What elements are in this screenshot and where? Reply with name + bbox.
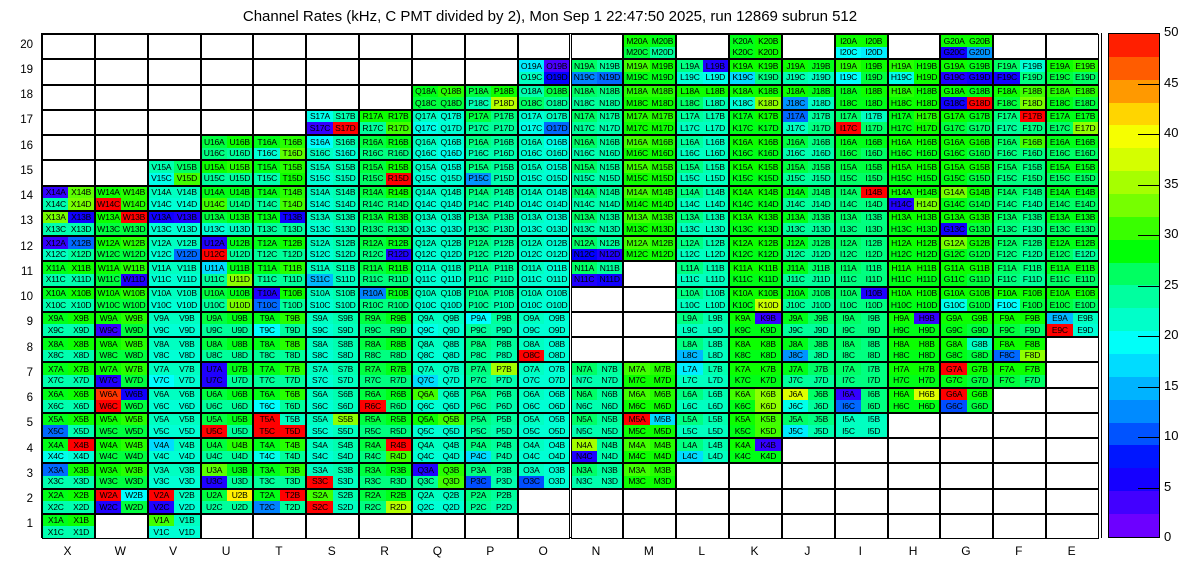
heatmap-cell-l14[interactable]: L14AL14BL14CL14D [676,186,729,211]
heatmap-cell-k18[interactable]: K18AK18BK18CK18D [729,85,782,110]
heatmap-cell-t6[interactable]: T6AT6BT6CT6D [253,388,306,413]
heatmap-cell-p20[interactable] [465,34,518,59]
heatmap-cell-e10[interactable]: E10AE10BE10CE10D [1046,287,1099,312]
heatmap-cell-l20[interactable] [676,34,729,59]
heatmap-cell-m7[interactable]: M7AM7BM7CM7D [623,362,676,387]
heatmap-cell-g18[interactable]: G18AG18BG18CG18D [940,85,993,110]
heatmap-cell-o16[interactable]: O16AO16BO16CO16D [518,135,571,160]
heatmap-cell-s8[interactable]: S8AS8BS8CS8D [306,337,359,362]
heatmap-cell-n18[interactable]: N18AN18BN18CN18D [571,85,624,110]
heatmap-cell-p3[interactable]: P3AP3BP3CP3D [465,463,518,488]
heatmap-cell-u11[interactable]: U11AU11BU11CU11D [201,261,254,286]
heatmap-cell-j5[interactable]: J5AJ5BJ5CJ5D [782,413,835,438]
heatmap-cell-w1[interactable] [95,514,148,539]
heatmap-cell-o10[interactable]: O10AO10BO10CO10D [518,287,571,312]
heatmap-cell-l7[interactable]: L7AL7BL7CL7D [676,362,729,387]
heatmap-cell-o11[interactable]: O11AO11BO11CO11D [518,261,571,286]
heatmap-cell-j10[interactable]: J10AJ10BJ10CJ10D [782,287,835,312]
heatmap-cell-f15[interactable]: F15AF15BF15CF15D [993,160,1046,185]
heatmap-cell-h3[interactable] [888,463,941,488]
heatmap-cell-f11[interactable]: F11AF11BF11CF11D [993,261,1046,286]
heatmap-cell-l18[interactable]: L18AL18BL18CL18D [676,85,729,110]
heatmap-cell-v13[interactable]: V13AV13BV13CV13D [148,211,201,236]
heatmap-cell-n20[interactable] [571,34,624,59]
heatmap-cell-o17[interactable]: O17AO17BO17CO17D [518,110,571,135]
heatmap-cell-n17[interactable]: N17AN17BN17CN17D [571,110,624,135]
heatmap-cell-u9[interactable]: U9AU9BU9CU9D [201,312,254,337]
heatmap-cell-e6[interactable] [1046,388,1099,413]
heatmap-cell-v2[interactable]: V2AV2BV2CV2D [148,489,201,514]
heatmap-cell-r3[interactable]: R3AR3BR3CR3D [359,463,412,488]
heatmap-cell-m9[interactable] [623,312,676,337]
heatmap-cell-e1[interactable] [1046,514,1099,539]
heatmap-cell-i18[interactable]: I18AI18BI18CI18D [835,85,888,110]
heatmap-cell-x7[interactable]: X7AX7BX7CX7D [42,362,95,387]
heatmap-cell-n10[interactable] [571,287,624,312]
heatmap-cell-l1[interactable] [676,514,729,539]
heatmap-cell-m13[interactable]: M13AM13BM13CM13D [623,211,676,236]
heatmap-cell-s20[interactable] [306,34,359,59]
heatmap-cell-l5[interactable]: L5AL5BL5CL5D [676,413,729,438]
heatmap-cell-w4[interactable]: W4AW4BW4CW4D [95,438,148,463]
heatmap-cell-p4[interactable]: P4AP4BP4CP4D [465,438,518,463]
heatmap-cell-n13[interactable]: N13AN13BN13CN13D [571,211,624,236]
heatmap-cell-e16[interactable]: E16AE16BE16CE16D [1046,135,1099,160]
heatmap-cell-o12[interactable]: O12AO12BO12CO12D [518,236,571,261]
heatmap-cell-k11[interactable]: K11AK11BK11CK11D [729,261,782,286]
heatmap-cell-f10[interactable]: F10AF10BF10CF10D [993,287,1046,312]
heatmap-cell-f12[interactable]: F12AF12BF12CF12D [993,236,1046,261]
heatmap-cell-p14[interactable]: P14AP14BP14CP14D [465,186,518,211]
heatmap-cell-l19[interactable]: L19AL19BL19CL19D [676,59,729,84]
heatmap-cell-q9[interactable]: Q9AQ9BQ9CQ9D [412,312,465,337]
heatmap-cell-x12[interactable]: X12AX12BX12CX12D [42,236,95,261]
heatmap-cell-i3[interactable] [835,463,888,488]
heatmap-cell-w9[interactable]: W9AW9BW9CW9D [95,312,148,337]
heatmap-cell-m5[interactable]: M5AM5BM5CM5D [623,413,676,438]
heatmap-cell-k4[interactable]: K4AK4BK4CK4D [729,438,782,463]
heatmap-cell-v5[interactable]: V5AV5BV5CV5D [148,413,201,438]
heatmap-cell-v7[interactable]: V7AV7BV7CV7D [148,362,201,387]
heatmap-cell-q1[interactable] [412,514,465,539]
heatmap-cell-o3[interactable]: O3AO3BO3CO3D [518,463,571,488]
heatmap-cell-x15[interactable] [42,160,95,185]
heatmap-cell-o15[interactable]: O15AO15BO15CO15D [518,160,571,185]
heatmap-cell-v4[interactable]: V4AV4BV4CV4D [148,438,201,463]
heatmap-cell-g13[interactable]: G13AG13BG13CG13D [940,211,993,236]
heatmap-cell-v9[interactable]: V9AV9BV9CV9D [148,312,201,337]
heatmap-cell-e7[interactable] [1046,362,1099,387]
heatmap-cell-s14[interactable]: S14AS14BS14CS14D [306,186,359,211]
heatmap-cell-i1[interactable] [835,514,888,539]
heatmap-cell-x16[interactable] [42,135,95,160]
heatmap-cell-s1[interactable] [306,514,359,539]
heatmap-cell-s17[interactable]: S17AS17BS17CS17D [306,110,359,135]
heatmap-cell-h19[interactable]: H19AH19BH19CH19D [888,59,941,84]
heatmap-cell-j4[interactable] [782,438,835,463]
heatmap-cell-t9[interactable]: T9AT9BT9CT9D [253,312,306,337]
heatmap-cell-w13[interactable]: W13AW13BW13CW13D [95,211,148,236]
heatmap-cell-p12[interactable]: P12AP12BP12CP12D [465,236,518,261]
heatmap-cell-k12[interactable]: K12AK12BK12CK12D [729,236,782,261]
heatmap-cell-k5[interactable]: K5AK5BK5CK5D [729,413,782,438]
heatmap-cell-i11[interactable]: I11AI11BI11CI11D [835,261,888,286]
heatmap-cell-i14[interactable]: I14AI14BI14CI14D [835,186,888,211]
heatmap-cell-q5[interactable]: Q5AQ5BQ5CQ5D [412,413,465,438]
heatmap-cell-u16[interactable]: U16AU16BU16CU16D [201,135,254,160]
heatmap-cell-s10[interactable]: S10AS10BS10CS10D [306,287,359,312]
heatmap-cell-f3[interactable] [993,463,1046,488]
heatmap-cell-f4[interactable] [993,438,1046,463]
heatmap-cell-j19[interactable]: J19AJ19BJ19CJ19D [782,59,835,84]
heatmap-cell-n2[interactable] [571,489,624,514]
heatmap-cell-r6[interactable]: R6AR6BR6CR6D [359,388,412,413]
heatmap-cell-j3[interactable] [782,463,835,488]
heatmap-cell-f16[interactable]: F16AF16BF16CF16D [993,135,1046,160]
heatmap-cell-e11[interactable]: E11AE11BE11CE11D [1046,261,1099,286]
heatmap-cell-w10[interactable]: W10AW10BW10CW10D [95,287,148,312]
heatmap-cell-x19[interactable] [42,59,95,84]
heatmap-cell-s19[interactable] [306,59,359,84]
heatmap-cell-o18[interactable]: O18AO18BO18CO18D [518,85,571,110]
heatmap-cell-w14[interactable]: W14AW14BW14CW14D [95,186,148,211]
heatmap-cell-j15[interactable]: J15AJ15BJ15CJ15D [782,160,835,185]
heatmap-cell-o7[interactable]: O7AO7BO7CO7D [518,362,571,387]
heatmap-cell-g15[interactable]: G15AG15BG15CG15D [940,160,993,185]
heatmap-cell-g20[interactable]: G20AG20BG20CG20D [940,34,993,59]
heatmap-cell-f6[interactable] [993,388,1046,413]
heatmap-cell-r16[interactable]: R16AR16BR16CR16D [359,135,412,160]
heatmap-cell-w11[interactable]: W11AW11BW11CW11D [95,261,148,286]
heatmap-cell-w16[interactable] [95,135,148,160]
heatmap-cell-w7[interactable]: W7AW7BW7CW7D [95,362,148,387]
heatmap-cell-h7[interactable]: H7AH7BH7CH7D [888,362,941,387]
heatmap-cell-f18[interactable]: F18AF18BF18CF18D [993,85,1046,110]
heatmap-cell-r10[interactable]: R10AR10BR10CR10D [359,287,412,312]
heatmap-cell-x13[interactable]: X13AX13BX13CX13D [42,211,95,236]
heatmap-cell-l11[interactable]: L11AL11BL11CL11D [676,261,729,286]
heatmap-cell-f2[interactable] [993,489,1046,514]
heatmap-cell-t11[interactable]: T11AT11BT11CT11D [253,261,306,286]
heatmap-cell-n9[interactable] [571,312,624,337]
heatmap-cell-u14[interactable]: U14AU14BU14CU14D [201,186,254,211]
heatmap-cell-x1[interactable]: X1AX1BX1CX1D [42,514,95,539]
heatmap-cell-f20[interactable] [993,34,1046,59]
heatmap-cell-i10[interactable]: I10AI10BI10CI10D [835,287,888,312]
heatmap-cell-h5[interactable] [888,413,941,438]
heatmap-cell-k13[interactable]: K13AK13BK13CK13D [729,211,782,236]
heatmap-cell-m4[interactable]: M4AM4BM4CM4D [623,438,676,463]
heatmap-cell-o1[interactable] [518,514,571,539]
heatmap-cell-s2[interactable]: S2AS2BS2CS2D [306,489,359,514]
heatmap-cell-r18[interactable] [359,85,412,110]
heatmap-cell-x6[interactable]: X6AX6BX6CX6D [42,388,95,413]
heatmap-cell-q2[interactable]: Q2AQ2BQ2CQ2D [412,489,465,514]
heatmap-cell-h9[interactable]: H9AH9BH9CH9D [888,312,941,337]
heatmap-cell-x3[interactable]: X3AX3BX3CX3D [42,463,95,488]
heatmap-cell-m2[interactable] [623,489,676,514]
heatmap-cell-v20[interactable] [148,34,201,59]
heatmap-cell-l12[interactable]: L12AL12BL12CL12D [676,236,729,261]
heatmap-cell-r12[interactable]: R12AR12BR12CR12D [359,236,412,261]
heatmap-cell-i17[interactable]: I17AI17BI17CI17D [835,110,888,135]
heatmap-cell-h6[interactable]: H6AH6BH6CH6D [888,388,941,413]
heatmap-cell-i12[interactable]: I12AI12BI12CI12D [835,236,888,261]
heatmap-cell-n3[interactable]: N3AN3BN3CN3D [571,463,624,488]
heatmap-cell-g3[interactable] [940,463,993,488]
heatmap-cell-t12[interactable]: T12AT12BT12CT12D [253,236,306,261]
heatmap-cell-u6[interactable]: U6AU6BU6CU6D [201,388,254,413]
heatmap-cell-j2[interactable] [782,489,835,514]
heatmap-cell-q4[interactable]: Q4AQ4BQ4CQ4D [412,438,465,463]
heatmap-cell-e19[interactable]: E19AE19BE19CE19D [1046,59,1099,84]
heatmap-cell-n12[interactable]: N12AN12BN12CN12D [571,236,624,261]
heatmap-cell-o5[interactable]: O5AO5BO5CO5D [518,413,571,438]
heatmap-cell-p7[interactable]: P7AP7BP7CP7D [465,362,518,387]
heatmap-cell-h14[interactable]: H14AH14BH14CH14D [888,186,941,211]
heatmap-cell-f14[interactable]: F14AF14BF14CF14D [993,186,1046,211]
heatmap-cell-s13[interactable]: S13AS13BS13CS13D [306,211,359,236]
heatmap-cell-l6[interactable]: L6AL6BL6CL6D [676,388,729,413]
heatmap-cell-j16[interactable]: J16AJ16BJ16CJ16D [782,135,835,160]
heatmap-cell-t2[interactable]: T2AT2BT2CT2D [253,489,306,514]
heatmap-cell-g5[interactable] [940,413,993,438]
heatmap-cell-g16[interactable]: G16AG16BG16CG16D [940,135,993,160]
heatmap-cell-p17[interactable]: P17AP17BP17CP17D [465,110,518,135]
heatmap-cell-l9[interactable]: L9AL9BL9CL9D [676,312,729,337]
heatmap-cell-h16[interactable]: H16AH16BH16CH16D [888,135,941,160]
heatmap-cell-q14[interactable]: Q14AQ14BQ14CQ14D [412,186,465,211]
heatmap-cell-v15[interactable]: V15AV15BV15CV15D [148,160,201,185]
heatmap-cell-k3[interactable] [729,463,782,488]
heatmap-cell-f13[interactable]: F13AF13BF13CF13D [993,211,1046,236]
heatmap-cell-v10[interactable]: V10AV10BV10CV10D [148,287,201,312]
heatmap-cell-h2[interactable] [888,489,941,514]
heatmap-cell-n6[interactable]: N6AN6BN6CN6D [571,388,624,413]
heatmap-cell-v6[interactable]: V6AV6BV6CV6D [148,388,201,413]
heatmap-cell-g14[interactable]: G14AG14BG14CG14D [940,186,993,211]
heatmap-cell-v17[interactable] [148,110,201,135]
heatmap-cell-e12[interactable]: E12AE12BE12CE12D [1046,236,1099,261]
heatmap-cell-q6[interactable]: Q6AQ6BQ6CQ6D [412,388,465,413]
heatmap-cell-p9[interactable]: P9AP9BP9CP9D [465,312,518,337]
heatmap-cell-o14[interactable]: O14AO14BO14CO14D [518,186,571,211]
heatmap-cell-e3[interactable] [1046,463,1099,488]
heatmap-cell-m1[interactable] [623,514,676,539]
heatmap-cell-t1[interactable] [253,514,306,539]
heatmap-cell-l4[interactable]: L4AL4BL4CL4D [676,438,729,463]
heatmap-cell-g10[interactable]: G10AG10BG10CG10D [940,287,993,312]
heatmap-cell-p1[interactable] [465,514,518,539]
heatmap-cell-r2[interactable]: R2AR2BR2CR2D [359,489,412,514]
heatmap-cell-w18[interactable] [95,85,148,110]
heatmap-cell-g19[interactable]: G19AG19BG19CG19D [940,59,993,84]
heatmap-cell-x14[interactable]: X14AX14BX14CX14D [42,186,95,211]
heatmap-cell-s11[interactable]: S11AS11BS11CS11D [306,261,359,286]
heatmap-cell-t13[interactable]: T13AT13BT13CT13D [253,211,306,236]
heatmap-cell-k16[interactable]: K16AK16BK16CK16D [729,135,782,160]
heatmap-cell-q18[interactable]: Q18AQ18BQ18CQ18D [412,85,465,110]
heatmap-cell-u3[interactable]: U3AU3BU3CU3D [201,463,254,488]
heatmap-cell-n8[interactable] [571,337,624,362]
heatmap-cell-j9[interactable]: J9AJ9BJ9CJ9D [782,312,835,337]
heatmap-cell-j14[interactable]: J14AJ14BJ14CJ14D [782,186,835,211]
heatmap-cell-v16[interactable] [148,135,201,160]
heatmap-cell-f7[interactable]: F7AF7BF7CF7D [993,362,1046,387]
heatmap-cell-s16[interactable]: S16AS16BS16CS16D [306,135,359,160]
heatmap-cell-l3[interactable] [676,463,729,488]
heatmap-cell-m18[interactable]: M18AM18BM18CM18D [623,85,676,110]
heatmap-cell-g17[interactable]: G17AG17BG17CG17D [940,110,993,135]
heatmap-cell-n15[interactable]: N15AN15BN15CN15D [571,160,624,185]
heatmap-cell-l15[interactable]: L15AL15BL15CL15D [676,160,729,185]
heatmap-cell-x2[interactable]: X2AX2BX2CX2D [42,489,95,514]
heatmap-cell-n7[interactable]: N7AN7BN7CN7D [571,362,624,387]
heatmap-cell-g8[interactable]: G8AG8BG8CG8D [940,337,993,362]
heatmap-cell-t19[interactable] [253,59,306,84]
heatmap-cell-o9[interactable]: O9AO9BO9CO9D [518,312,571,337]
heatmap-cell-j20[interactable] [782,34,835,59]
heatmap-cell-f17[interactable]: F17AF17BF17CF17D [993,110,1046,135]
heatmap-cell-i6[interactable]: I6AI6BI6CI6D [835,388,888,413]
heatmap-cell-p15[interactable]: P15AP15BP15CP15D [465,160,518,185]
heatmap-cell-m20[interactable]: M20AM20BM20CM20D [623,34,676,59]
heatmap-cell-p16[interactable]: P16AP16BP16CP16D [465,135,518,160]
heatmap-cell-x5[interactable]: X5AX5BX5CX5D [42,413,95,438]
heatmap-cell-q8[interactable]: Q8AQ8BQ8CQ8D [412,337,465,362]
heatmap-cell-k7[interactable]: K7AK7BK7CK7D [729,362,782,387]
heatmap-cell-w15[interactable] [95,160,148,185]
heatmap-cell-p13[interactable]: P13AP13BP13CP13D [465,211,518,236]
heatmap-cell-j1[interactable] [782,514,835,539]
heatmap-cell-m12[interactable]: M12AM12BM12CM12D [623,236,676,261]
heatmap-cell-m14[interactable]: M14AM14BM14CM14D [623,186,676,211]
heatmap-cell-u15[interactable]: U15AU15BU15CU15D [201,160,254,185]
heatmap-cell-x17[interactable] [42,110,95,135]
heatmap-cell-v14[interactable]: V14AV14BV14CV14D [148,186,201,211]
heatmap-cell-k9[interactable]: K9AK9BK9CK9D [729,312,782,337]
heatmap-cell-l10[interactable]: L10AL10BL10CL10D [676,287,729,312]
heatmap-cell-k8[interactable]: K8AK8BK8CK8D [729,337,782,362]
heatmap-cell-k20[interactable]: K20AK20BK20CK20D [729,34,782,59]
heatmap-cell-q15[interactable]: Q15AQ15BQ15CQ15D [412,160,465,185]
heatmap-cell-l16[interactable]: L16AL16BL16CL16D [676,135,729,160]
heatmap-cell-j6[interactable]: J6AJ6BJ6CJ6D [782,388,835,413]
heatmap-cell-l13[interactable]: L13AL13BL13CL13D [676,211,729,236]
heatmap-cell-i19[interactable]: I19AI19BI19CI19D [835,59,888,84]
heatmap-cell-f1[interactable] [993,514,1046,539]
heatmap-cell-s9[interactable]: S9AS9BS9CS9D [306,312,359,337]
heatmap-cell-s18[interactable] [306,85,359,110]
heatmap-cell-i7[interactable]: I7AI7BI7CI7D [835,362,888,387]
heatmap-cell-k10[interactable]: K10AK10BK10CK10D [729,287,782,312]
heatmap-cell-p18[interactable]: P18AP18BP18CP18D [465,85,518,110]
heatmap-cell-m15[interactable]: M15AM15BM15CM15D [623,160,676,185]
heatmap-cell-o20[interactable] [518,34,571,59]
heatmap-cell-q10[interactable]: Q10AQ10BQ10CQ10D [412,287,465,312]
heatmap-cell-x8[interactable]: X8AX8BX8CX8D [42,337,95,362]
heatmap-cell-q13[interactable]: Q13AQ13BQ13CQ13D [412,211,465,236]
heatmap-cell-t10[interactable]: T10AT10BT10CT10D [253,287,306,312]
heatmap-cell-o2[interactable] [518,489,571,514]
heatmap-cell-t15[interactable]: T15AT15BT15CT15D [253,160,306,185]
heatmap-cell-i2[interactable] [835,489,888,514]
heatmap-cell-q3[interactable]: Q3AQ3BQ3CQ3D [412,463,465,488]
heatmap-cell-v3[interactable]: V3AV3BV3CV3D [148,463,201,488]
heatmap-cell-m16[interactable]: M16AM16BM16CM16D [623,135,676,160]
heatmap-cell-l17[interactable]: L17AL17BL17CL17D [676,110,729,135]
channel-rate-heatmap[interactable]: M20AM20BM20CM20DK20AK20BK20CK20DI20AI20B… [41,33,1098,538]
heatmap-cell-e8[interactable] [1046,337,1099,362]
heatmap-cell-g1[interactable] [940,514,993,539]
heatmap-cell-x11[interactable]: X11AX11BX11CX11D [42,261,95,286]
heatmap-cell-g12[interactable]: G12AG12BG12CG12D [940,236,993,261]
heatmap-cell-w19[interactable] [95,59,148,84]
heatmap-cell-u7[interactable]: U7AU7BU7CU7D [201,362,254,387]
heatmap-cell-g7[interactable]: G7AG7BG7CG7D [940,362,993,387]
heatmap-cell-p19[interactable] [465,59,518,84]
heatmap-cell-s3[interactable]: S3AS3BS3CS3D [306,463,359,488]
heatmap-cell-g4[interactable] [940,438,993,463]
heatmap-cell-t16[interactable]: T16AT16BT16CT16D [253,135,306,160]
heatmap-cell-r13[interactable]: R13AR13BR13CR13D [359,211,412,236]
heatmap-cell-h8[interactable]: H8AH8BH8CH8D [888,337,941,362]
heatmap-cell-r8[interactable]: R8AR8BR8CR8D [359,337,412,362]
heatmap-cell-t7[interactable]: T7AT7BT7CT7D [253,362,306,387]
heatmap-cell-i13[interactable]: I13AI13BI13CI13D [835,211,888,236]
heatmap-cell-h18[interactable]: H18AH18BH18CH18D [888,85,941,110]
heatmap-cell-j13[interactable]: J13AJ13BJ13CJ13D [782,211,835,236]
heatmap-cell-n19[interactable]: N19AN19BN19CN19D [571,59,624,84]
heatmap-cell-m17[interactable]: M17AM17BM17CM17D [623,110,676,135]
heatmap-cell-p11[interactable]: P11AP11BP11CP11D [465,261,518,286]
heatmap-cell-q16[interactable]: Q16AQ16BQ16CQ16D [412,135,465,160]
heatmap-cell-e9[interactable]: E9AE9BE9CE9D [1046,312,1099,337]
heatmap-cell-k19[interactable]: K19AK19BK19CK19D [729,59,782,84]
heatmap-cell-k14[interactable]: K14AK14BK14CK14D [729,186,782,211]
heatmap-cell-r9[interactable]: R9AR9BR9CR9D [359,312,412,337]
heatmap-cell-h12[interactable]: H12AH12BH12CH12D [888,236,941,261]
heatmap-cell-j18[interactable]: J18AJ18BJ18CJ18D [782,85,835,110]
heatmap-cell-l8[interactable]: L8AL8BL8CL8D [676,337,729,362]
heatmap-cell-r14[interactable]: R14AR14BR14CR14D [359,186,412,211]
heatmap-cell-k15[interactable]: K15AK15BK15CK15D [729,160,782,185]
heatmap-cell-h4[interactable] [888,438,941,463]
heatmap-cell-v19[interactable] [148,59,201,84]
heatmap-cell-v18[interactable] [148,85,201,110]
heatmap-cell-p5[interactable]: P5AP5BP5CP5D [465,413,518,438]
heatmap-cell-h13[interactable]: H13AH13BH13CH13D [888,211,941,236]
heatmap-cell-r17[interactable]: R17AR17BR17CR17D [359,110,412,135]
heatmap-cell-m8[interactable] [623,337,676,362]
heatmap-cell-u12[interactable]: U12AU12BU12CU12D [201,236,254,261]
heatmap-cell-m3[interactable]: M3AM3BM3CM3D [623,463,676,488]
heatmap-cell-t17[interactable] [253,110,306,135]
heatmap-cell-i4[interactable] [835,438,888,463]
heatmap-cell-m11[interactable] [623,261,676,286]
heatmap-cell-t14[interactable]: T14AT14BT14CT14D [253,186,306,211]
heatmap-cell-x4[interactable]: X4AX4BX4CX4D [42,438,95,463]
heatmap-cell-e14[interactable]: E14AE14BE14CE14D [1046,186,1099,211]
heatmap-cell-f8[interactable]: F8AF8BF8CF8D [993,337,1046,362]
heatmap-cell-p10[interactable]: P10AP10BP10CP10D [465,287,518,312]
heatmap-cell-n1[interactable] [571,514,624,539]
heatmap-cell-v12[interactable]: V12AV12BV12CV12D [148,236,201,261]
heatmap-cell-t4[interactable]: T4AT4BT4CT4D [253,438,306,463]
heatmap-cell-q7[interactable]: Q7AQ7BQ7CQ7D [412,362,465,387]
heatmap-cell-s12[interactable]: S12AS12BS12CS12D [306,236,359,261]
heatmap-cell-w2[interactable]: W2AW2BW2CW2D [95,489,148,514]
